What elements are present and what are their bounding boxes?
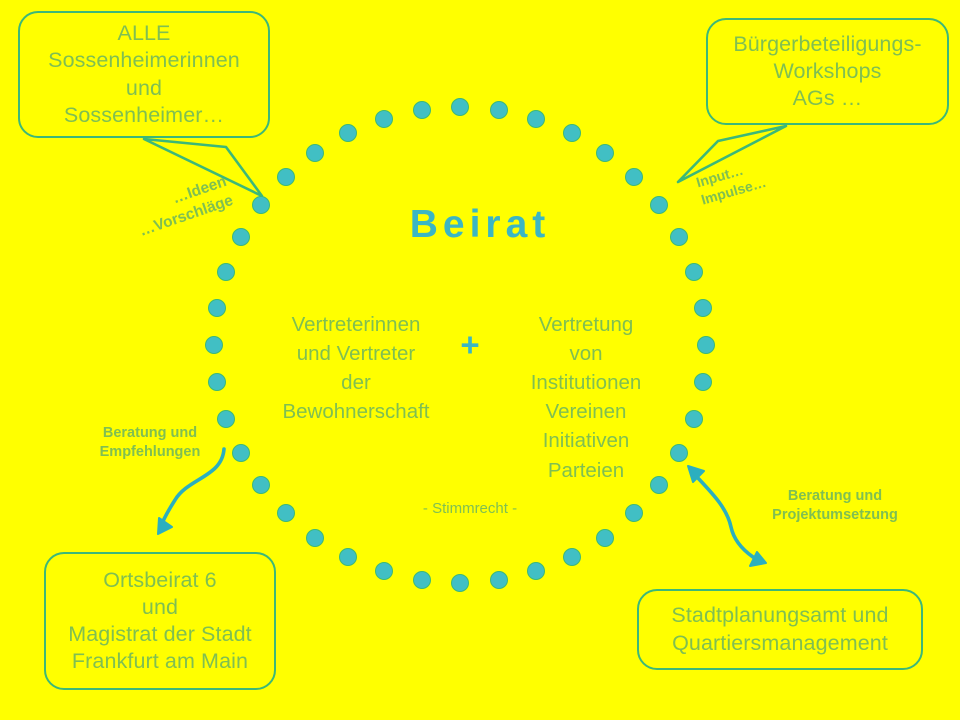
ring-dot	[413, 101, 431, 119]
ring-dot	[490, 571, 508, 589]
ring-dot	[217, 263, 235, 281]
arrowhead-projektumsetzung-down	[750, 552, 766, 566]
ring-dot	[306, 144, 324, 162]
box-stadtplanungsamt-quartiersmanagement: Stadtplanungsamt und Quartiersmanagement	[637, 589, 923, 670]
ring-dot	[685, 410, 703, 428]
bubble-participation-workshops: Bürgerbeteiligungs- Workshops AGs …	[706, 18, 949, 125]
ring-dot	[596, 529, 614, 547]
ring-dot	[413, 571, 431, 589]
label-beratung-projektumsetzung: Beratung und Projektumsetzung	[742, 487, 928, 525]
ring-dot	[563, 548, 581, 566]
diagram-canvas: Beirat Vertreterinnen und Vertreter der …	[0, 0, 960, 720]
ring-dot	[451, 574, 469, 592]
ring-dot	[277, 168, 295, 186]
ring-dot	[252, 476, 270, 494]
bubble-residents: ALLE Sossenheimerinnen und Sossenheimer…	[18, 11, 270, 138]
box-ortsbeirat-magistrat: Ortsbeirat 6 und Magistrat der Stadt Fra…	[44, 552, 276, 690]
ring-dot	[205, 336, 223, 354]
ring-dot	[697, 336, 715, 354]
ring-dot	[451, 98, 469, 116]
ring-dot	[694, 299, 712, 317]
ring-dot	[596, 144, 614, 162]
center-column-left: Vertreterinnen und Vertreter der Bewohne…	[258, 310, 454, 426]
ring-dot	[527, 110, 545, 128]
ring-dot	[625, 168, 643, 186]
label-beratung-empfehlungen: Beratung und Empfehlungen	[60, 424, 240, 462]
ring-dot	[306, 529, 324, 547]
center-column-right: Vertretung von Institutionen Vereinen In…	[486, 310, 686, 485]
ring-dot	[490, 101, 508, 119]
ring-dot	[563, 124, 581, 142]
ring-dot	[375, 110, 393, 128]
stimmrecht-note: - Stimmrecht -	[330, 500, 610, 517]
ring-dot	[208, 299, 226, 317]
ring-dot	[685, 263, 703, 281]
